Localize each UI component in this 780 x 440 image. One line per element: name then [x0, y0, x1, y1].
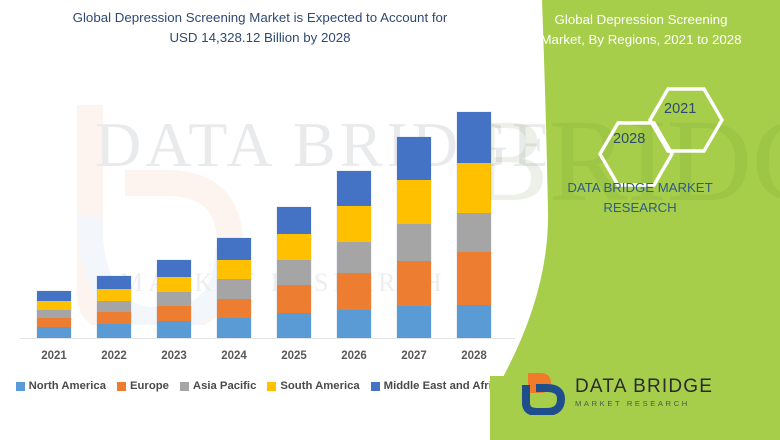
legend-label: Europe [130, 380, 169, 392]
x-axis-label-2027: 2027 [384, 350, 444, 362]
bar-segment-south-america [277, 234, 311, 260]
legend-item-asia-pacific[interactable]: Asia Pacific [180, 380, 256, 392]
brand-name-line2: RESEARCH [520, 198, 760, 218]
legend-swatch-icon [267, 382, 276, 391]
bar-segment-europe [337, 273, 371, 310]
page-title: Global Depression Screening Market is Ex… [0, 8, 520, 48]
legend-swatch-icon [117, 382, 126, 391]
bar-segment-middle-east-and-africa [37, 291, 71, 301]
logo-subtitle: MARKET RESEARCH [575, 400, 713, 408]
branding-panel: BRIDGE Global Depression Screening Marke… [490, 0, 780, 440]
logo-text-block: DATA BRIDGE MARKET RESEARCH [575, 377, 713, 408]
bar-segment-europe [457, 252, 491, 305]
bar-segment-europe [397, 261, 431, 306]
bar-segment-europe [97, 312, 131, 324]
bar-segment-north-america [97, 324, 131, 338]
bar-segment-north-america [337, 310, 371, 338]
bar-2027 [397, 137, 431, 338]
bar-segment-north-america [277, 313, 311, 338]
brand-name-line1: DATA BRIDGE MARKET [520, 178, 760, 198]
bar-segment-asia-pacific [37, 310, 71, 318]
bar-segment-south-america [397, 180, 431, 224]
panel-title-line2: Market, By Regions, 2021 to 2028 [512, 30, 770, 50]
legend-item-south-america[interactable]: South America [267, 380, 359, 392]
bar-segment-south-america [37, 301, 71, 310]
x-axis-label-2021: 2021 [24, 350, 84, 362]
bar-2028 [457, 112, 491, 338]
panel-title: Global Depression Screening Market, By R… [512, 10, 770, 50]
bar-segment-north-america [457, 305, 491, 338]
bar-segment-middle-east-and-africa [337, 171, 371, 206]
panel-title-line1: Global Depression Screening [512, 10, 770, 30]
bar-2026 [337, 171, 371, 338]
x-axis-label-2024: 2024 [204, 350, 264, 362]
legend-item-europe[interactable]: Europe [117, 380, 169, 392]
bar-segment-middle-east-and-africa [97, 276, 131, 289]
legend-item-north-america[interactable]: North America [16, 380, 106, 392]
bar-2025 [277, 207, 311, 338]
bar-segment-south-america [97, 289, 131, 301]
bar-segment-asia-pacific [97, 301, 131, 312]
hexagon-2028-shape [600, 123, 672, 185]
legend-label: North America [29, 380, 106, 392]
bar-segment-south-america [217, 260, 251, 279]
x-axis-label-2023: 2023 [144, 350, 204, 362]
company-logo: DATA BRIDGE MARKET RESEARCH [520, 366, 765, 418]
bar-2021 [37, 291, 71, 338]
brand-name: DATA BRIDGE MARKET RESEARCH [520, 178, 760, 219]
legend-item-middle-east-and-africa[interactable]: Middle East and Africa [371, 380, 505, 392]
bar-segment-asia-pacific [157, 292, 191, 306]
page-title-line2: USD 14,328.12 Billion by 2028 [0, 28, 520, 48]
bar-segment-middle-east-and-africa [157, 260, 191, 277]
legend-swatch-icon [180, 382, 189, 391]
bar-segment-asia-pacific [277, 260, 311, 285]
bar-segment-middle-east-and-africa [277, 207, 311, 234]
bar-segment-north-america [157, 321, 191, 338]
bar-2024 [217, 238, 251, 338]
x-axis-label-2022: 2022 [84, 350, 144, 362]
legend-label: Middle East and Africa [384, 380, 505, 392]
bar-2023 [157, 260, 191, 338]
legend-label: South America [280, 380, 359, 392]
bar-segment-asia-pacific [457, 213, 491, 252]
logo-mark-icon [520, 369, 566, 415]
page-title-line1: Global Depression Screening Market is Ex… [0, 8, 520, 28]
logo-title: DATA BRIDGE [575, 377, 713, 396]
bar-segment-asia-pacific [337, 242, 371, 273]
hexagon-2021-shape [650, 89, 722, 151]
bar-segment-north-america [217, 318, 251, 338]
x-axis-line [20, 338, 515, 339]
hexagon-group-icon [570, 85, 760, 190]
bar-segment-middle-east-and-africa [217, 238, 251, 260]
bar-segment-north-america [37, 327, 71, 338]
bar-segment-europe [157, 306, 191, 321]
bar-chart-plot [0, 0, 545, 440]
bar-segment-europe [217, 299, 251, 318]
bar-segment-north-america [397, 306, 431, 338]
x-axis-label-2026: 2026 [324, 350, 384, 362]
legend-swatch-icon [371, 382, 380, 391]
bar-segment-south-america [157, 277, 191, 292]
chart-panel: DATA BRIDGE MARKET RESEARCH Global Depre… [0, 0, 545, 440]
bar-segment-europe [277, 285, 311, 313]
legend-label: Asia Pacific [193, 380, 256, 392]
bar-segment-europe [37, 318, 71, 327]
bar-segment-south-america [337, 206, 371, 242]
bar-segment-south-america [457, 163, 491, 213]
bar-segment-middle-east-and-africa [397, 137, 431, 180]
bar-2022 [97, 276, 131, 338]
bar-segment-middle-east-and-africa [457, 112, 491, 163]
bar-segment-asia-pacific [217, 279, 251, 299]
bar-segment-asia-pacific [397, 224, 431, 261]
chart-legend: North AmericaEuropeAsia PacificSouth Ame… [0, 380, 520, 392]
legend-swatch-icon [16, 382, 25, 391]
x-axis-label-2025: 2025 [264, 350, 324, 362]
